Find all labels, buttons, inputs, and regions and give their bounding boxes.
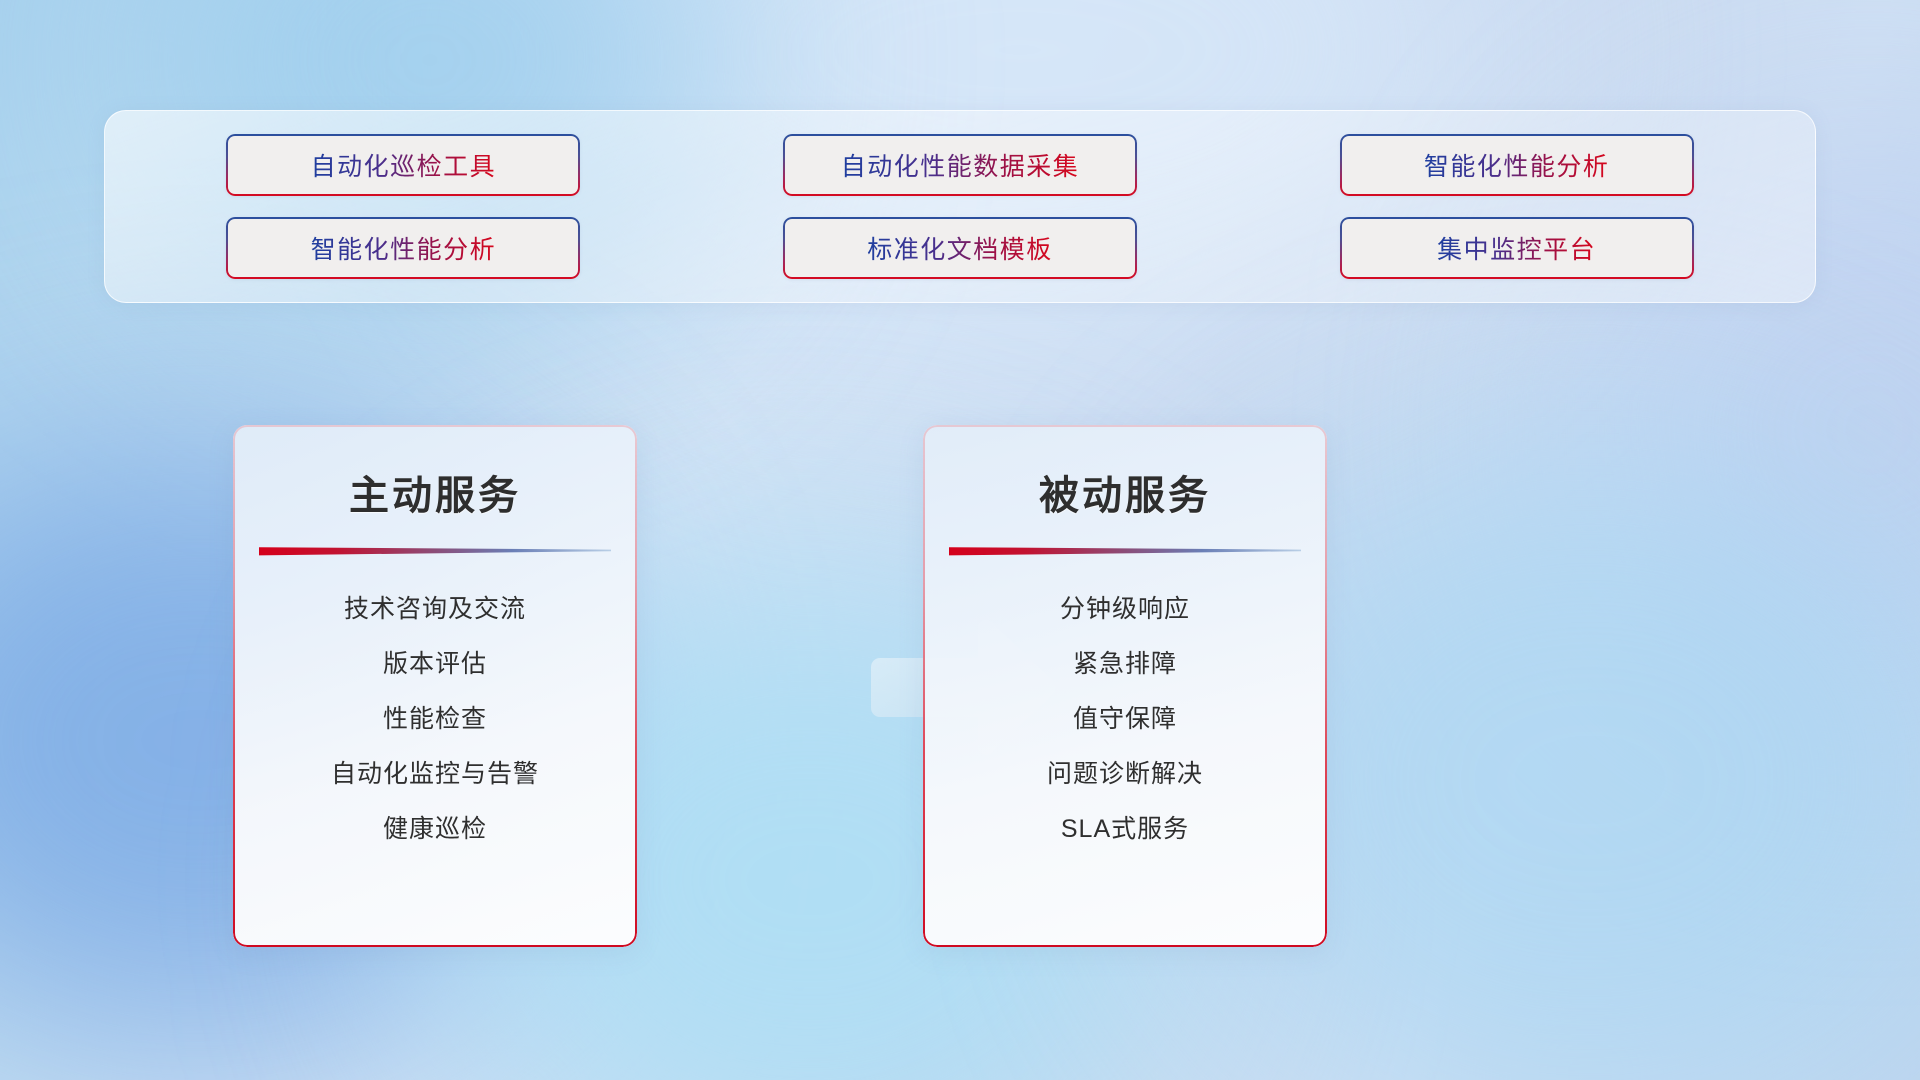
service-list: 分钟级响应 紧急排障 值守保障 问题诊断解决 SLA式服务 (923, 582, 1327, 857)
capability-pill-label: 自动化性能数据采集 (841, 147, 1080, 183)
service-list-item: 值守保障 (923, 692, 1327, 747)
service-card-title: 主动服务 (233, 463, 637, 521)
service-list-item: 自动化监控与告警 (233, 747, 637, 802)
service-list-item: SLA式服务 (923, 802, 1327, 857)
service-list-item: 分钟级响应 (923, 582, 1327, 637)
capability-pill[interactable]: 集中监控平台 (1340, 217, 1694, 279)
service-list-item: 性能检查 (233, 692, 637, 747)
capability-pill[interactable]: 自动化巡检工具 (226, 134, 580, 196)
service-list-item: 紧急排障 (923, 637, 1327, 692)
service-card-reactive: 被动服务 分钟级响应 紧急排障 值守保障 问题诊断解决 SLA式服务 (923, 425, 1327, 947)
capability-pill-label: 智能化性能分析 (311, 230, 497, 266)
service-card-title: 被动服务 (923, 463, 1327, 521)
capability-pill[interactable]: 智能化性能分析 (226, 217, 580, 279)
title-divider (259, 545, 611, 556)
capability-pill[interactable]: 标准化文档模板 (783, 217, 1137, 279)
service-list-item: 健康巡检 (233, 802, 637, 857)
service-list-item: 问题诊断解决 (923, 747, 1327, 802)
capability-pill-label: 集中监控平台 (1437, 230, 1596, 266)
capability-pill-label: 智能化性能分析 (1424, 147, 1610, 183)
capability-pill-label: 自动化巡检工具 (311, 147, 497, 183)
capability-pill[interactable]: 自动化性能数据采集 (783, 134, 1137, 196)
capability-pill-label: 标准化文档模板 (867, 230, 1053, 266)
service-card-proactive: 主动服务 技术咨询及交流 版本评估 性能检查 自动化监控与告警 健康巡检 (233, 425, 637, 947)
title-divider (949, 545, 1301, 556)
service-list: 技术咨询及交流 版本评估 性能检查 自动化监控与告警 健康巡检 (233, 582, 637, 857)
service-list-item: 版本评估 (233, 637, 637, 692)
service-list-item: 技术咨询及交流 (233, 582, 637, 637)
capability-panel: 自动化巡检工具 自动化性能数据采集 智能化性能分析 智能化性能分析 标准化文档模… (104, 110, 1816, 303)
capability-pill[interactable]: 智能化性能分析 (1340, 134, 1694, 196)
